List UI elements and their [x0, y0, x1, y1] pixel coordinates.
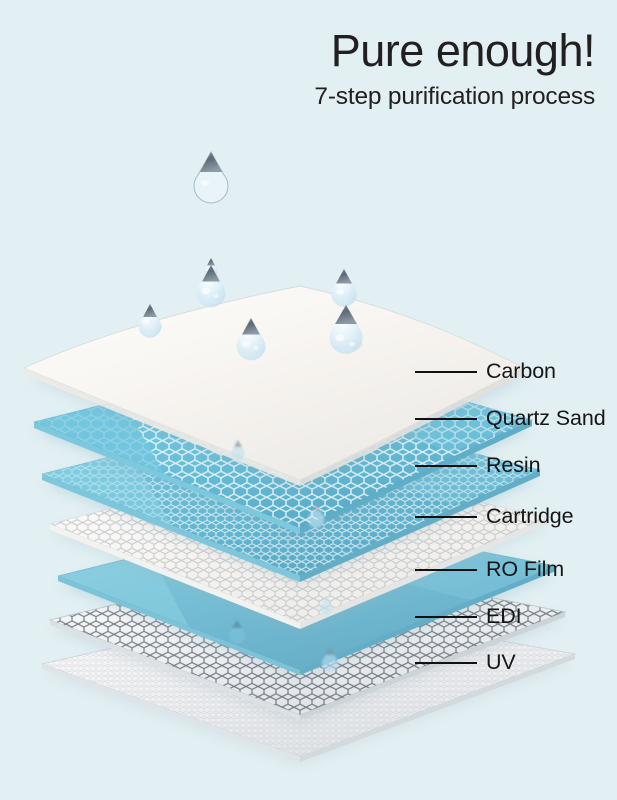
layer-label-ro-film: RO Film — [486, 559, 564, 581]
leader-line-uv — [415, 662, 477, 664]
leader-line-carbon — [415, 371, 477, 373]
callout-edi[interactable]: EDI — [415, 605, 522, 629]
layer-label-quartz-sand: Quartz Sand — [486, 408, 606, 430]
leader-line-edi — [415, 616, 477, 618]
leader-line-quartz-sand — [415, 418, 477, 420]
leader-line-cartridge — [415, 516, 477, 518]
layer-label-list: Carbon Quartz Sand Resin Cartridge RO Fi… — [0, 0, 617, 800]
callout-resin[interactable]: Resin — [415, 454, 540, 478]
leader-line-resin — [415, 465, 477, 467]
infographic-canvas: Pure enough! 7-step purification process… — [0, 0, 617, 800]
callout-ro-film[interactable]: RO Film — [415, 558, 564, 582]
layer-label-cartridge: Cartridge — [486, 506, 574, 528]
layer-label-edi: EDI — [486, 606, 522, 628]
callout-quartz-sand[interactable]: Quartz Sand — [415, 407, 606, 431]
layer-label-uv: UV — [486, 652, 516, 674]
layer-label-resin: Resin — [486, 455, 540, 477]
leader-line-ro-film — [415, 569, 477, 571]
callout-uv[interactable]: UV — [415, 651, 516, 675]
layer-label-carbon: Carbon — [486, 361, 556, 383]
callout-carbon[interactable]: Carbon — [415, 360, 556, 384]
callout-cartridge[interactable]: Cartridge — [415, 505, 574, 529]
